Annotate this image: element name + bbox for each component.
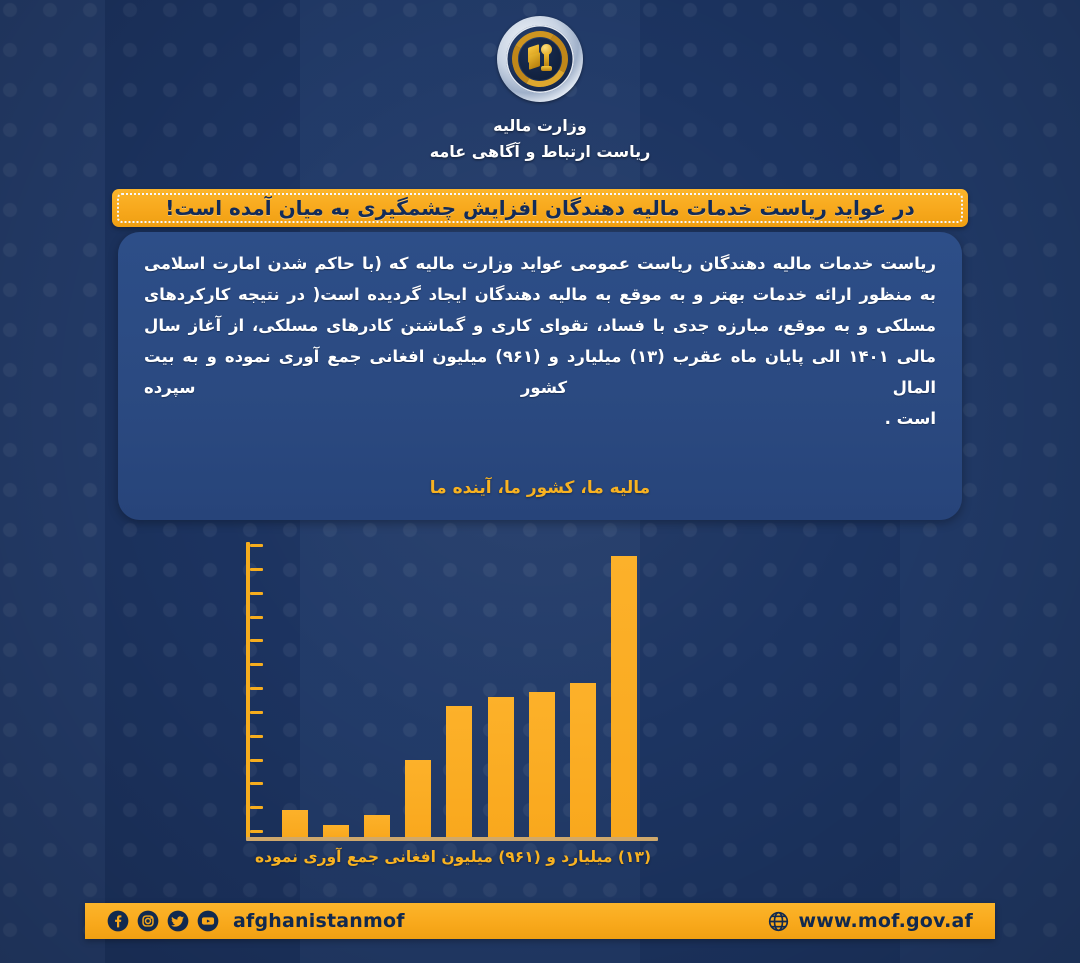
body-paragraph-tail: است . [144, 403, 936, 434]
chart-bar [364, 815, 390, 837]
ministry-name: وزارت مالیه [0, 116, 1080, 135]
chart-caption: (۱۳) میلیارد و (۹۶۱) میلیون افغانی جمع آ… [238, 848, 668, 866]
chart-y-tick [250, 639, 263, 642]
chart-bar [446, 706, 472, 837]
chart-y-tick [250, 568, 263, 571]
chart-y-tick [250, 782, 263, 785]
twitter-icon[interactable] [167, 910, 189, 932]
facebook-icon[interactable] [107, 910, 129, 932]
infographic-poster: وزارت مالیه ریاست ارتباط و آگاهی عامه در… [0, 0, 1080, 963]
footer-social-group[interactable]: afghanistanmof [107, 910, 405, 932]
chart-y-tick [250, 544, 263, 547]
department-name: ریاست ارتباط و آگاهی عامه [0, 142, 1080, 161]
chart-bar [570, 683, 596, 837]
footer-website-group[interactable]: www.mof.gov.af [767, 910, 973, 933]
revenue-bar-chart [238, 540, 668, 850]
body-paragraph: ریاست خدمات مالیه دهندگان ریاست عمومی عو… [144, 248, 936, 434]
headline-banner: در عواید ریاست خدمات مالیه دهندگان افزای… [112, 189, 968, 227]
chart-y-axis [246, 542, 250, 840]
chart-y-tick [250, 735, 263, 738]
chart-y-tick [250, 592, 263, 595]
content-panel: ریاست خدمات مالیه دهندگان ریاست عمومی عو… [118, 232, 962, 520]
globe-icon [767, 910, 790, 933]
chart-y-tick [250, 759, 263, 762]
chart-y-tick [250, 687, 263, 690]
youtube-icon[interactable] [197, 910, 219, 932]
website-url[interactable]: www.mof.gov.af [798, 910, 973, 932]
chart-bar [529, 692, 555, 837]
chart-bar [405, 760, 431, 837]
chart-y-tick [250, 806, 263, 809]
headline-text: در عواید ریاست خدمات مالیه دهندگان افزای… [165, 196, 915, 220]
chart-bar [323, 825, 349, 837]
chart-y-tick [250, 830, 263, 833]
chart-bar [282, 810, 308, 837]
poster-footer: www.mof.gov.af afghanistanmof [85, 903, 995, 939]
chart-y-tick [250, 616, 263, 619]
chart-x-axis [246, 837, 658, 841]
chart-y-tick [250, 663, 263, 666]
social-handle[interactable]: afghanistanmof [233, 910, 405, 932]
ministry-of-finance-emblem-icon [497, 16, 583, 102]
chart-bar [488, 697, 514, 837]
chart-bar [611, 556, 637, 837]
instagram-icon[interactable] [137, 910, 159, 932]
poster-header: وزارت مالیه ریاست ارتباط و آگاهی عامه [0, 0, 1080, 161]
chart-y-tick [250, 711, 263, 714]
body-paragraph-main: ریاست خدمات مالیه دهندگان ریاست عمومی عو… [144, 254, 936, 397]
slogan-text: مالیه ما، کشور ما، آینده ما [118, 478, 962, 498]
chart-plot-area [282, 540, 658, 837]
